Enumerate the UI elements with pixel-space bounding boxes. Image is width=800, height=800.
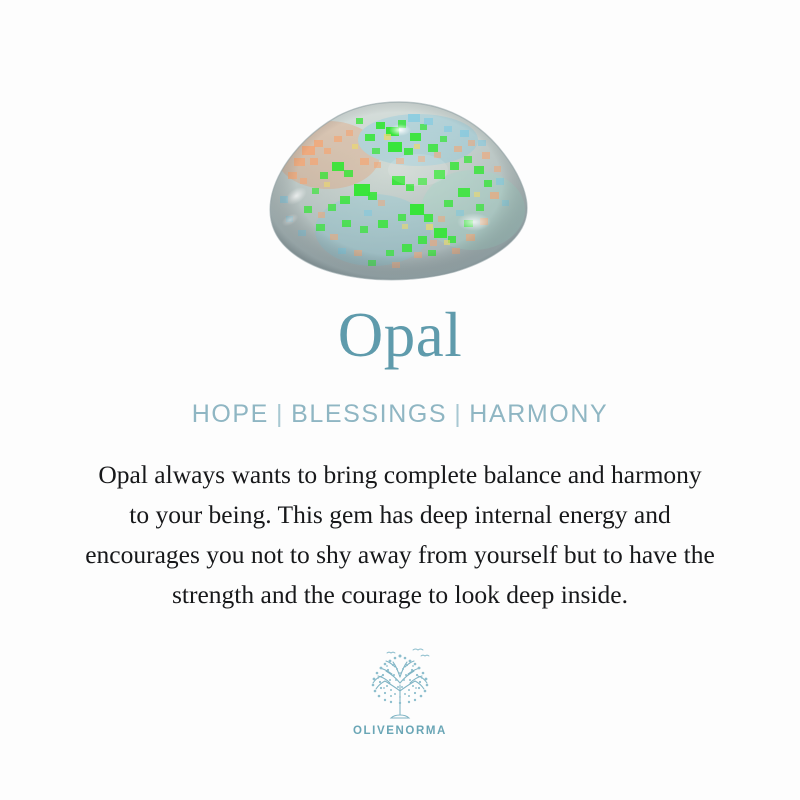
- brand-logo: OLIVENORMA: [353, 645, 447, 737]
- description-line: strength and the courage to look deep in…: [20, 575, 780, 615]
- description-line: Opal always wants to bring complete bala…: [20, 455, 780, 495]
- gemstone-info-card: Opal HOPE|BLESSINGS|HARMONY Opal always …: [0, 0, 800, 800]
- description-paragraph: Opal always wants to bring complete bala…: [20, 429, 780, 615]
- description-line: to your being. This gem has deep interna…: [20, 495, 780, 535]
- keyword-tagline: HOPE|BLESSINGS|HARMONY: [192, 370, 609, 429]
- description-line: encourages you not to shy away from your…: [20, 535, 780, 575]
- keyword-separator-2: |: [447, 400, 469, 428]
- keyword-separator-1: |: [269, 400, 291, 428]
- olive-tree-logo-icon: [357, 645, 443, 721]
- keyword-harmony: HARMONY: [469, 400, 608, 428]
- keyword-hope: HOPE: [192, 400, 269, 428]
- keyword-blessings: BLESSINGS: [291, 400, 447, 428]
- brand-name: OLIVENORMA: [353, 725, 447, 737]
- opal-cabochon-icon: [268, 100, 530, 282]
- opal-gemstone-image: [268, 100, 530, 282]
- hero-image-area: [0, 0, 800, 300]
- page-title: Opal: [338, 300, 462, 370]
